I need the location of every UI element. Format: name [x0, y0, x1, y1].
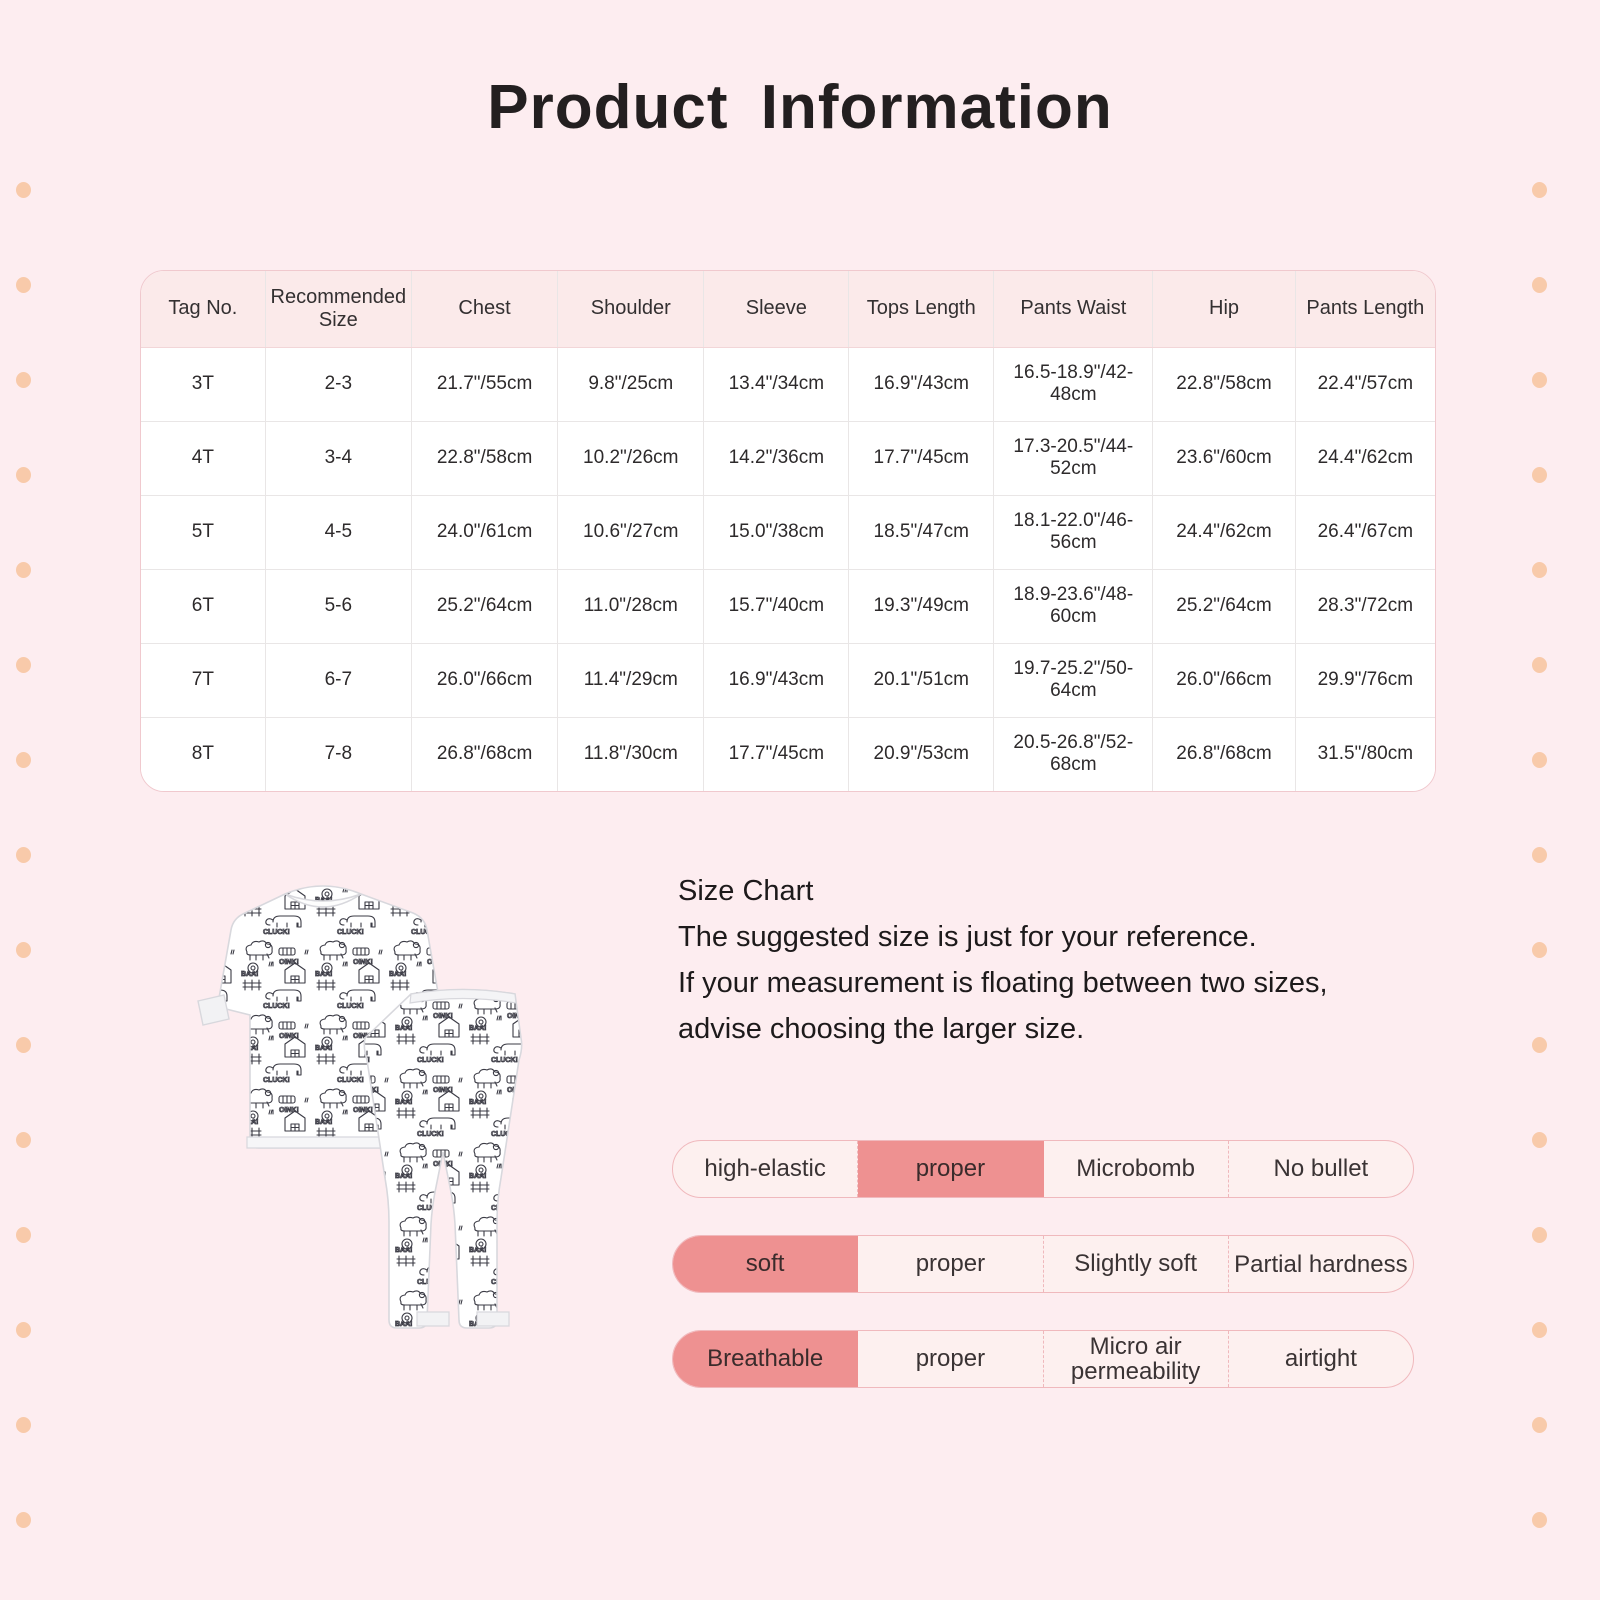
decorative-dot [1532, 1037, 1547, 1053]
property-cell[interactable]: Slightly soft [1044, 1236, 1229, 1292]
table-cell-pants-waist: 16.5-18.9"/42-48cm [994, 347, 1153, 421]
decorative-dot [16, 1132, 31, 1148]
table-cell-shoulder: 10.2"/26cm [558, 421, 704, 495]
table-cell-shoulder: 11.0"/28cm [558, 569, 704, 643]
decorative-dot [16, 372, 31, 388]
decorative-dots-left [16, 0, 56, 1600]
column-header-tops-length: Tops Length [849, 271, 994, 347]
decorative-dot [16, 562, 31, 578]
table-cell-chest: 26.0"/66cm [411, 643, 557, 717]
table-cell-pants-length: 28.3"/72cm [1295, 569, 1435, 643]
table-cell-pants-waist: 18.9-23.6"/48-60cm [994, 569, 1153, 643]
decorative-dot [16, 847, 31, 863]
decorative-dot [16, 1037, 31, 1053]
decorative-dot [1532, 562, 1547, 578]
product-image-pajama-set: BAA! OINK! CLUCK! [165, 862, 585, 1392]
table-cell-tag-no: 6T [141, 569, 265, 643]
size-table: Tag No. Recommended Size Chest Shoulder … [141, 271, 1435, 791]
table-cell-shoulder: 11.4"/29cm [558, 643, 704, 717]
table-cell-sleeve: 17.7"/45cm [704, 717, 849, 791]
table-cell-tops-length: 20.1"/51cm [849, 643, 994, 717]
decorative-dot [16, 1512, 31, 1528]
table-cell-sleeve: 14.2"/36cm [704, 421, 849, 495]
property-cell[interactable]: Micro air permeability [1044, 1331, 1229, 1387]
column-header-tag-no: Tag No. [141, 271, 265, 347]
table-cell-tag-no: 5T [141, 495, 265, 569]
table-cell-chest: 21.7"/55cm [411, 347, 557, 421]
property-cell[interactable]: No bullet [1229, 1141, 1413, 1197]
decorative-dot [16, 1227, 31, 1243]
table-cell-hip: 26.8"/68cm [1153, 717, 1295, 791]
decorative-dot [16, 752, 31, 768]
table-cell-hip: 23.6"/60cm [1153, 421, 1295, 495]
property-cell[interactable]: proper [858, 1331, 1043, 1387]
table-row: 8T7-826.8"/68cm11.8"/30cm17.7"/45cm20.9"… [141, 717, 1435, 791]
decorative-dot [16, 1417, 31, 1433]
table-cell-tag-no: 8T [141, 717, 265, 791]
size-chart-heading: Size Chart [678, 868, 1438, 914]
decorative-dot [1532, 1417, 1547, 1433]
table-cell-tops-length: 19.3"/49cm [849, 569, 994, 643]
table-cell-tops-length: 20.9"/53cm [849, 717, 994, 791]
column-header-pants-length: Pants Length [1295, 271, 1435, 347]
table-cell-recommended-size: 6-7 [265, 643, 411, 717]
column-header-hip: Hip [1153, 271, 1295, 347]
size-chart-line-2: If your measurement is floating between … [678, 960, 1438, 1006]
property-bar-breathability: BreathableproperMicro air permeabilityai… [672, 1330, 1414, 1388]
property-cell[interactable]: Microbomb [1044, 1141, 1229, 1197]
table-cell-chest: 22.8"/58cm [411, 421, 557, 495]
property-bar-elasticity: high-elasticproperMicrobombNo bullet [672, 1140, 1414, 1198]
property-cell[interactable]: high-elastic [673, 1141, 858, 1197]
decorative-dot [1532, 657, 1547, 673]
decorative-dot [16, 467, 31, 483]
table-cell-tops-length: 18.5"/47cm [849, 495, 994, 569]
property-cell[interactable]: airtight [1229, 1331, 1413, 1387]
table-row: 7T6-726.0"/66cm11.4"/29cm16.9"/43cm20.1"… [141, 643, 1435, 717]
property-cell-active[interactable]: Breathable [673, 1331, 858, 1387]
property-rating-bars: high-elasticproperMicrobombNo bulletsoft… [672, 1140, 1414, 1425]
decorative-dot [1532, 372, 1547, 388]
table-cell-recommended-size: 5-6 [265, 569, 411, 643]
decorative-dot [16, 277, 31, 293]
property-cell-active[interactable]: soft [673, 1236, 858, 1292]
property-bar-softness: softproperSlightly softPartial hardness [672, 1235, 1414, 1293]
table-cell-sleeve: 13.4"/34cm [704, 347, 849, 421]
column-header-sleeve: Sleeve [704, 271, 849, 347]
table-cell-recommended-size: 4-5 [265, 495, 411, 569]
size-chart-line-3: advise choosing the larger size. [678, 1006, 1438, 1052]
table-cell-pants-waist: 20.5-26.8"/52-68cm [994, 717, 1153, 791]
decorative-dot [16, 1322, 31, 1338]
column-header-shoulder: Shoulder [558, 271, 704, 347]
table-cell-sleeve: 16.9"/43cm [704, 643, 849, 717]
table-row: 4T3-422.8"/58cm10.2"/26cm14.2"/36cm17.7"… [141, 421, 1435, 495]
table-cell-recommended-size: 7-8 [265, 717, 411, 791]
decorative-dot [1532, 1512, 1547, 1528]
table-cell-pants-waist: 18.1-22.0"/46-56cm [994, 495, 1153, 569]
property-cell[interactable]: proper [858, 1236, 1043, 1292]
table-cell-hip: 25.2"/64cm [1153, 569, 1295, 643]
table-cell-chest: 26.8"/68cm [411, 717, 557, 791]
table-row: 3T2-321.7"/55cm9.8"/25cm13.4"/34cm16.9"/… [141, 347, 1435, 421]
decorative-dot [1532, 1322, 1547, 1338]
table-cell-tag-no: 4T [141, 421, 265, 495]
table-cell-hip: 24.4"/62cm [1153, 495, 1295, 569]
decorative-dot [1532, 752, 1547, 768]
decorative-dot [1532, 277, 1547, 293]
property-cell-active[interactable]: proper [858, 1141, 1043, 1197]
table-cell-pants-waist: 17.3-20.5"/44-52cm [994, 421, 1153, 495]
table-cell-hip: 26.0"/66cm [1153, 643, 1295, 717]
table-cell-recommended-size: 3-4 [265, 421, 411, 495]
table-cell-chest: 25.2"/64cm [411, 569, 557, 643]
column-header-chest: Chest [411, 271, 557, 347]
decorative-dot [1532, 1132, 1547, 1148]
table-cell-pants-length: 31.5"/80cm [1295, 717, 1435, 791]
column-header-recommended-size: Recommended Size [265, 271, 411, 347]
size-chart-note: Size Chart The suggested size is just fo… [678, 868, 1438, 1052]
size-chart-line-1: The suggested size is just for your refe… [678, 914, 1438, 960]
table-row: 5T4-524.0"/61cm10.6"/27cm15.0"/38cm18.5"… [141, 495, 1435, 569]
table-cell-pants-length: 22.4"/57cm [1295, 347, 1435, 421]
table-cell-sleeve: 15.7"/40cm [704, 569, 849, 643]
table-cell-tops-length: 16.9"/43cm [849, 347, 994, 421]
decorative-dot [16, 182, 31, 198]
table-cell-pants-length: 26.4"/67cm [1295, 495, 1435, 569]
table-cell-recommended-size: 2-3 [265, 347, 411, 421]
table-cell-pants-waist: 19.7-25.2"/50-64cm [994, 643, 1153, 717]
decorative-dot [16, 657, 31, 673]
page-title: Product Information [0, 72, 1600, 143]
table-cell-shoulder: 10.6"/27cm [558, 495, 704, 569]
decorative-dot [16, 942, 31, 958]
table-cell-tops-length: 17.7"/45cm [849, 421, 994, 495]
decorative-dot [1532, 467, 1547, 483]
decorative-dot [1532, 182, 1547, 198]
decorative-dot [1532, 942, 1547, 958]
table-cell-sleeve: 15.0"/38cm [704, 495, 849, 569]
table-cell-pants-length: 29.9"/76cm [1295, 643, 1435, 717]
size-table-container: Tag No. Recommended Size Chest Shoulder … [140, 270, 1436, 792]
property-cell[interactable]: Partial hardness [1229, 1236, 1413, 1292]
table-cell-tag-no: 7T [141, 643, 265, 717]
table-header-row: Tag No. Recommended Size Chest Shoulder … [141, 271, 1435, 347]
decorative-dots-right [1532, 0, 1572, 1600]
decorative-dot [1532, 847, 1547, 863]
table-cell-hip: 22.8"/58cm [1153, 347, 1295, 421]
table-cell-tag-no: 3T [141, 347, 265, 421]
table-cell-shoulder: 11.8"/30cm [558, 717, 704, 791]
decorative-dot [1532, 1227, 1547, 1243]
table-cell-chest: 24.0"/61cm [411, 495, 557, 569]
column-header-pants-waist: Pants Waist [994, 271, 1153, 347]
table-row: 6T5-625.2"/64cm11.0"/28cm15.7"/40cm19.3"… [141, 569, 1435, 643]
table-cell-pants-length: 24.4"/62cm [1295, 421, 1435, 495]
table-cell-shoulder: 9.8"/25cm [558, 347, 704, 421]
